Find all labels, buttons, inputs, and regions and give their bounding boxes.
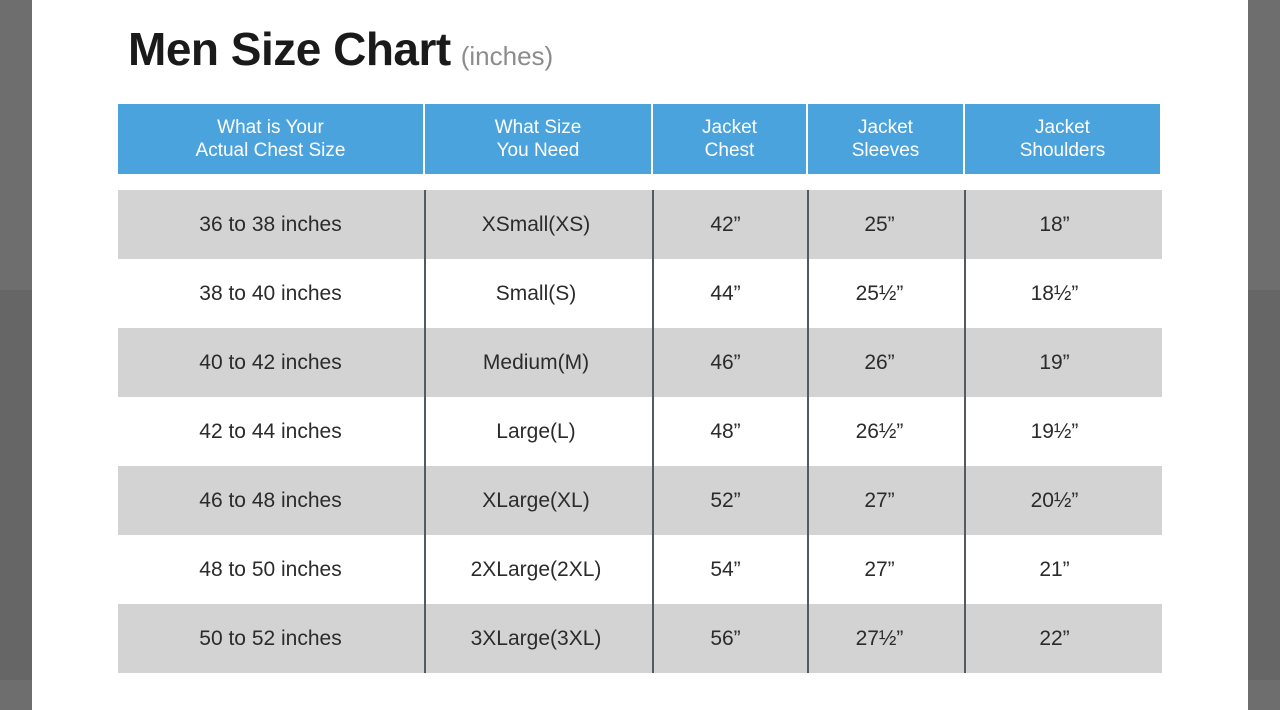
cell-actual-chest-size: 50 to 52 inches — [118, 604, 423, 673]
table-row: 36 to 38 inches XSmall(XS) 42” 25” 18” — [118, 190, 1162, 259]
cell-actual-chest-size: 48 to 50 inches — [118, 535, 423, 604]
cell-actual-chest-size: 36 to 38 inches — [118, 190, 423, 259]
table-row: 50 to 52 inches 3XLarge(3XL) 56” 27½” 22… — [118, 604, 1162, 673]
cell-jacket-shoulders: 19½” — [957, 397, 1152, 466]
page-title-units: (inches) — [461, 41, 553, 72]
column-header-size-you-need: What Size You Need — [425, 104, 651, 174]
letterbox-bar-left — [0, 0, 32, 710]
cell-jacket-sleeves: 25½” — [802, 259, 957, 328]
column-header-jacket-sleeves: Jacket Sleeves — [808, 104, 963, 174]
cell-size-you-need: Large(L) — [423, 397, 649, 466]
column-header-jacket-shoulders: Jacket Shoulders — [965, 104, 1160, 174]
cell-jacket-shoulders: 20½” — [957, 466, 1152, 535]
table-row: 42 to 44 inches Large(L) 48” 26½” 19½” — [118, 397, 1162, 466]
column-header-line2: You Need — [497, 139, 580, 162]
column-header-line1: Jacket — [1035, 116, 1090, 139]
column-divider-4 — [964, 190, 966, 673]
cell-jacket-chest: 54” — [649, 535, 802, 604]
cell-size-you-need: XLarge(XL) — [423, 466, 649, 535]
cell-jacket-chest: 48” — [649, 397, 802, 466]
page-title-main: Men Size Chart — [128, 22, 451, 76]
table-row: 38 to 40 inches Small(S) 44” 25½” 18½” — [118, 259, 1162, 328]
cell-jacket-chest: 42” — [649, 190, 802, 259]
cell-jacket-shoulders: 22” — [957, 604, 1152, 673]
cell-jacket-sleeves: 26” — [802, 328, 957, 397]
cell-size-you-need: 3XLarge(3XL) — [423, 604, 649, 673]
cell-jacket-sleeves: 26½” — [802, 397, 957, 466]
cell-actual-chest-size: 42 to 44 inches — [118, 397, 423, 466]
column-divider-3 — [807, 190, 809, 673]
cell-jacket-sleeves: 27” — [802, 466, 957, 535]
column-header-line1: Jacket — [858, 116, 913, 139]
cell-actual-chest-size: 40 to 42 inches — [118, 328, 423, 397]
size-chart-table: What is Your Actual Chest Size What Size… — [118, 104, 1162, 673]
cell-jacket-sleeves: 25” — [802, 190, 957, 259]
column-header-line2: Shoulders — [1020, 139, 1106, 162]
cell-size-you-need: 2XLarge(2XL) — [423, 535, 649, 604]
letterbox-bar-right — [1248, 0, 1280, 710]
column-header-jacket-chest: Jacket Chest — [653, 104, 806, 174]
cell-actual-chest-size: 46 to 48 inches — [118, 466, 423, 535]
column-header-actual-chest-size: What is Your Actual Chest Size — [118, 104, 423, 174]
column-divider-1 — [424, 190, 426, 673]
column-header-line2: Actual Chest Size — [196, 139, 346, 162]
page-title: Men Size Chart (inches) — [128, 22, 553, 76]
column-header-line1: What is Your — [217, 116, 324, 139]
cell-size-you-need: XSmall(XS) — [423, 190, 649, 259]
cell-jacket-chest: 46” — [649, 328, 802, 397]
column-divider-2 — [652, 190, 654, 673]
size-chart-page: Men Size Chart (inches) What is Your Act… — [0, 0, 1280, 710]
cell-jacket-shoulders: 18½” — [957, 259, 1152, 328]
cell-jacket-sleeves: 27½” — [802, 604, 957, 673]
table-row: 46 to 48 inches XLarge(XL) 52” 27” 20½” — [118, 466, 1162, 535]
table-row: 48 to 50 inches 2XLarge(2XL) 54” 27” 21” — [118, 535, 1162, 604]
cell-jacket-shoulders: 19” — [957, 328, 1152, 397]
cell-jacket-shoulders: 18” — [957, 190, 1152, 259]
cell-size-you-need: Small(S) — [423, 259, 649, 328]
cell-size-you-need: Medium(M) — [423, 328, 649, 397]
cell-jacket-chest: 56” — [649, 604, 802, 673]
cell-actual-chest-size: 38 to 40 inches — [118, 259, 423, 328]
cell-jacket-shoulders: 21” — [957, 535, 1152, 604]
column-header-line1: Jacket — [702, 116, 757, 139]
column-header-line2: Sleeves — [852, 139, 920, 162]
table-body: 36 to 38 inches XSmall(XS) 42” 25” 18” 3… — [118, 190, 1162, 673]
table-header-row: What is Your Actual Chest Size What Size… — [118, 104, 1162, 174]
table-row: 40 to 42 inches Medium(M) 46” 26” 19” — [118, 328, 1162, 397]
column-header-line1: What Size — [495, 116, 582, 139]
cell-jacket-sleeves: 27” — [802, 535, 957, 604]
cell-jacket-chest: 52” — [649, 466, 802, 535]
cell-jacket-chest: 44” — [649, 259, 802, 328]
column-header-line2: Chest — [705, 139, 755, 162]
